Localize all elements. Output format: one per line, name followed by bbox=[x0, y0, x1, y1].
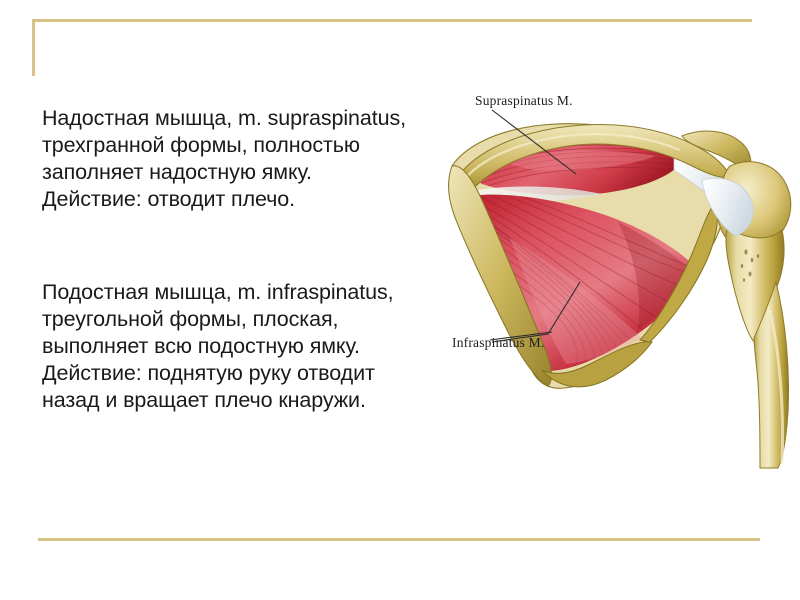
paragraph-infraspinatus: Подостная мышца, m. infraspinatus, треуг… bbox=[42, 279, 442, 414]
label-infraspinatus: Infraspinatus M. bbox=[452, 335, 544, 351]
slide-canvas: Надостная мышца, m. supraspinatus, трехг… bbox=[0, 0, 800, 600]
frame-top-rule bbox=[100, 19, 752, 22]
anatomy-illustration: Supraspinatus M. Infraspinatus M. bbox=[430, 70, 800, 470]
frame-bottom-rule bbox=[38, 538, 760, 541]
label-supraspinatus: Supraspinatus M. bbox=[475, 93, 573, 109]
frame-corner-rule bbox=[32, 19, 102, 22]
text-column: Надостная мышца, m. supraspinatus, трехг… bbox=[42, 105, 442, 414]
shoulder-anatomy-figure bbox=[430, 70, 800, 470]
paragraph-supraspinatus: Надостная мышца, m. supraspinatus, трехг… bbox=[42, 105, 442, 213]
frame-left-rule bbox=[32, 19, 35, 76]
